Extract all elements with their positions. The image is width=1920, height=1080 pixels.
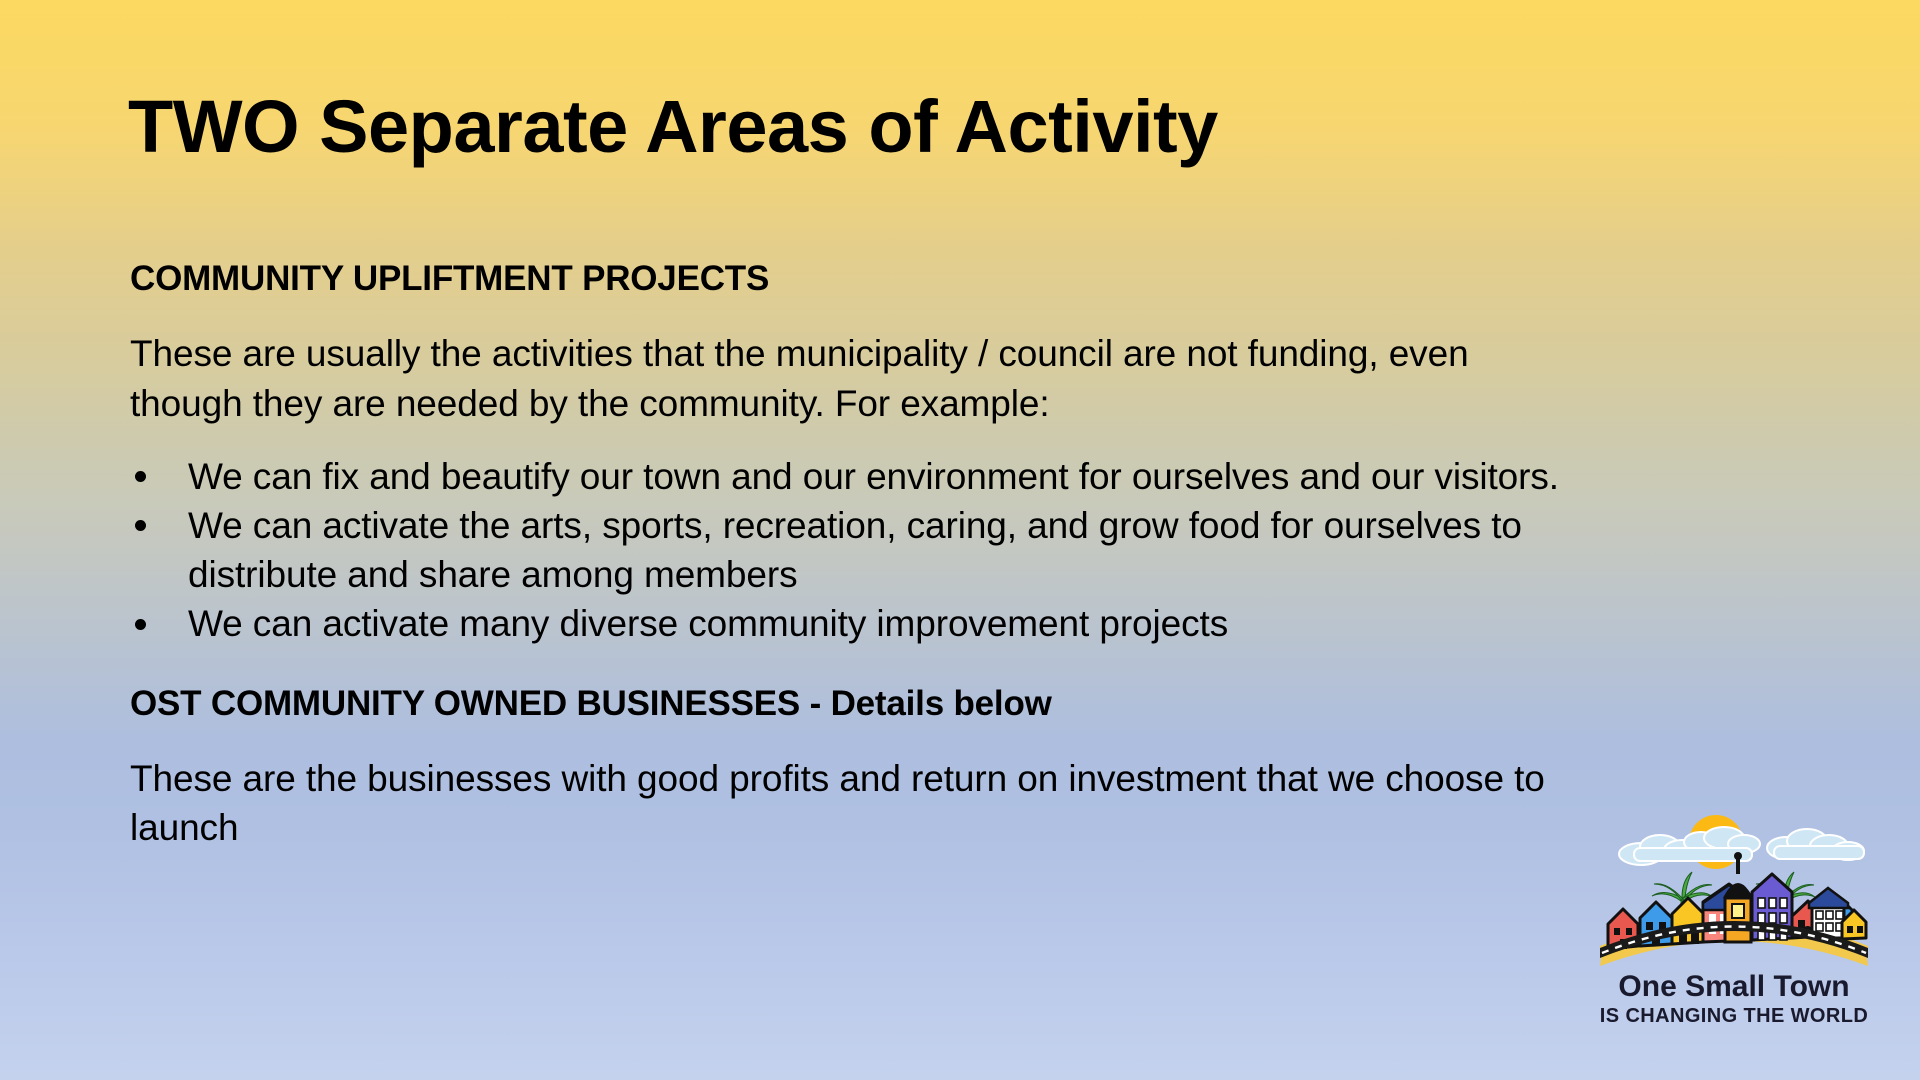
spacer — [130, 299, 1610, 329]
list-item: We can activate many diverse community i… — [130, 599, 1590, 648]
section-heading-community-upliftment: COMMUNITY UPLIFTMENT PROJECTS — [130, 258, 1610, 299]
list-item-text: We can activate many diverse community i… — [188, 603, 1228, 644]
bullet-dot-icon — [135, 471, 146, 482]
bullet-dot-icon — [135, 619, 146, 630]
spacer — [130, 724, 1610, 754]
list-item-text: We can fix and beautify our town and our… — [188, 456, 1559, 497]
one-small-town-logo: One Small Town IS CHANGING THE WORLD — [1596, 806, 1872, 1034]
spacer — [130, 428, 1610, 452]
slide-canvas: TWO Separate Areas of Activity COMMUNITY… — [0, 0, 1920, 1080]
section-one-intro-paragraph: These are usually the activities that th… — [130, 329, 1550, 427]
list-item: We can fix and beautify our town and our… — [130, 452, 1590, 501]
logo-name-text: One Small Town — [1618, 970, 1849, 1003]
section-two-intro-paragraph: These are the businesses with good profi… — [130, 754, 1550, 852]
spacer — [130, 649, 1610, 683]
bullet-dot-icon — [135, 520, 146, 531]
logo-tagline-text: IS CHANGING THE WORLD — [1600, 1005, 1868, 1027]
slide-body: COMMUNITY UPLIFTMENT PROJECTS These are … — [130, 258, 1610, 852]
page-title: TWO Separate Areas of Activity — [128, 88, 1218, 166]
community-upliftment-bullet-list: We can fix and beautify our town and our… — [130, 452, 1610, 649]
list-item: We can activate the arts, sports, recrea… — [130, 501, 1590, 599]
list-item-text: We can activate the arts, sports, recrea… — [188, 505, 1522, 595]
cloud-icon-right — [1767, 829, 1864, 860]
section-heading-ost-community-owned-businesses: OST COMMUNITY OWNED BUSINESSES - Details… — [130, 683, 1610, 724]
house-yellow-1 — [1672, 898, 1704, 944]
